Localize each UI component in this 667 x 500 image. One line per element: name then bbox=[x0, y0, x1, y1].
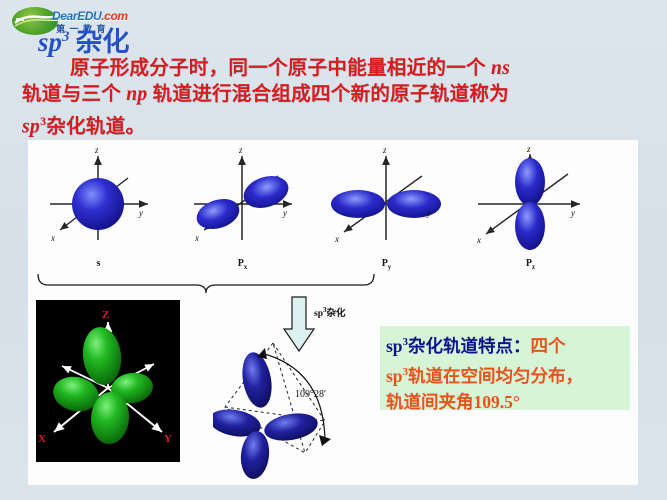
bond-angle-label: 109°28′ bbox=[295, 389, 326, 400]
svg-text:x: x bbox=[334, 234, 339, 244]
title-formula: sp bbox=[38, 27, 62, 57]
orbital-s: z y x s bbox=[36, 142, 161, 282]
orbital-diagram-row: z y x s bbox=[28, 140, 638, 280]
sp3-tetrahedral-figure: 109°28′ bbox=[213, 335, 408, 485]
orbital-pz-label: Pz bbox=[468, 258, 593, 271]
svg-text:z: z bbox=[238, 145, 243, 155]
ns-italic: ns bbox=[491, 58, 510, 79]
grouping-brace bbox=[36, 272, 376, 294]
intro-paragraph: 原子形成分子时，同一个原子中能量相近的一个 ns 轨道与三个 np 轨道进行混合… bbox=[22, 56, 652, 141]
orbital-py-label: Py bbox=[324, 258, 449, 271]
black-image-axis-y: Y bbox=[164, 433, 172, 445]
hybridization-label: sp3杂化 bbox=[314, 305, 346, 319]
summary-line-2: sp3轨道在空间均匀分布， bbox=[386, 359, 626, 389]
paragraph-line3-b: 杂化轨道。 bbox=[46, 117, 145, 138]
svg-text:y: y bbox=[570, 208, 575, 218]
summary-line1-rest: 杂化轨道特点： bbox=[408, 336, 531, 356]
svg-text:y: y bbox=[426, 208, 431, 218]
orbital-px-sub: x bbox=[244, 263, 248, 271]
summary-callout-box: sp3杂化轨道特点：四个 sp3轨道在空间均匀分布， 轨道间夹角109.5° bbox=[380, 326, 630, 410]
black-image-axis-x: X bbox=[38, 433, 46, 445]
summary-sp: sp bbox=[386, 336, 403, 356]
svg-text:y: y bbox=[282, 208, 287, 218]
paragraph-line-1: 原子形成分子时，同一个原子中能量相近的一个 ns bbox=[22, 56, 652, 82]
sp-italic: sp bbox=[22, 117, 40, 138]
svg-text:z: z bbox=[94, 145, 99, 155]
svg-text:z: z bbox=[382, 145, 387, 155]
paragraph-line2-a: 轨道与三个 bbox=[22, 84, 126, 105]
paragraph-line1-text: 原子形成分子时，同一个原子中能量相近的一个 bbox=[70, 58, 491, 79]
orbital-py: z y x Py bbox=[324, 142, 449, 282]
orbital-pz-sub: z bbox=[532, 263, 535, 271]
svg-text:z: z bbox=[526, 144, 531, 154]
orbital-px-label: Px bbox=[180, 258, 305, 271]
paragraph-line2-b: 轨道进行混合组成四个新的原子轨道称为 bbox=[147, 84, 509, 105]
paragraph-line-3: sp3杂化轨道。 bbox=[22, 108, 652, 141]
orbital-s-label: s bbox=[36, 258, 161, 269]
green-lobes-graphic: Z X Y bbox=[36, 300, 180, 462]
page-title: sp3杂化 bbox=[38, 20, 130, 59]
hybridization-label-b: 杂化 bbox=[326, 309, 345, 319]
np-italic: np bbox=[126, 84, 147, 105]
content-panel: z y x s bbox=[28, 140, 638, 485]
svg-text:x: x bbox=[194, 233, 199, 243]
svg-text:x: x bbox=[50, 233, 55, 243]
title-word: 杂化 bbox=[70, 27, 130, 57]
orbital-pz: z y x Pz bbox=[468, 142, 593, 282]
slide-background: DearEDU.com 第 一 教 育 sp3杂化 原子形成分子时，同一个原子中… bbox=[0, 0, 667, 500]
summary-line1-orange: 四个 bbox=[531, 336, 566, 356]
summary-line-1: sp3杂化轨道特点：四个 bbox=[386, 329, 626, 359]
summary-line-3: 轨道间夹角109.5° bbox=[386, 389, 626, 415]
orbital-s-name: s bbox=[97, 258, 101, 269]
hybridization-label-a: sp bbox=[314, 309, 323, 319]
tetrahedral-graphic: 109°28′ bbox=[213, 335, 408, 485]
s-orbital-graphic: z y x bbox=[36, 142, 161, 260]
paragraph-line-2: 轨道与三个 np 轨道进行混合组成四个新的原子轨道称为 bbox=[22, 82, 652, 108]
summary-line2-rest: 轨道在空间均匀分布， bbox=[408, 366, 583, 386]
px-orbital-graphic: z y x bbox=[180, 142, 305, 260]
title-superscript: 3 bbox=[62, 29, 70, 45]
svg-text:y: y bbox=[138, 208, 143, 218]
svg-text:x: x bbox=[476, 235, 481, 245]
black-image-axis-z: Z bbox=[102, 309, 109, 321]
orbital-py-sub: y bbox=[388, 263, 392, 271]
sp3-green-orbital-image: Z X Y bbox=[36, 300, 180, 462]
summary-line2-sp: sp bbox=[386, 366, 403, 386]
orbital-px: z y x Px bbox=[180, 142, 305, 282]
pz-orbital-graphic: z y x bbox=[468, 142, 593, 260]
py-orbital-graphic: z y x bbox=[324, 142, 449, 260]
